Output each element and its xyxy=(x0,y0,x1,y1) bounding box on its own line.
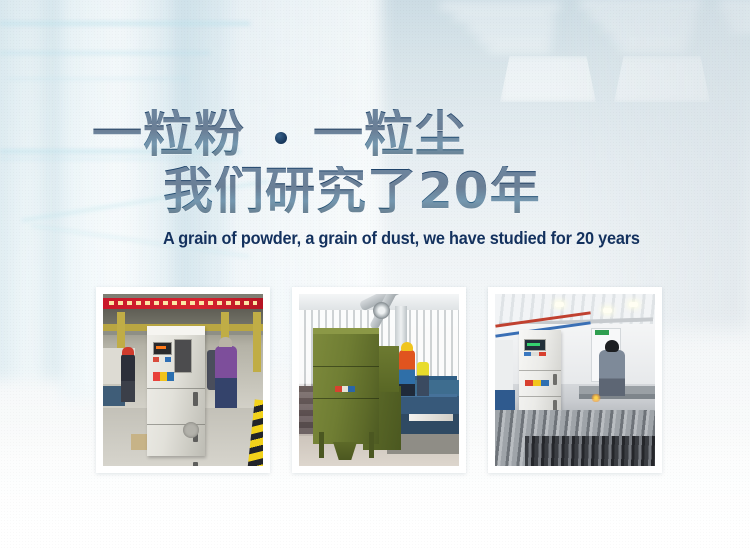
photo-white-cabinet-workshop xyxy=(495,294,655,466)
photo-frame-3[interactable] xyxy=(488,287,662,473)
headline-line-2: 我们研究了20年 xyxy=(163,166,541,216)
dot-separator-icon xyxy=(275,132,287,144)
photo-frame-2[interactable] xyxy=(292,287,466,473)
headline-phrase-powder: 一粒粉 xyxy=(92,109,245,159)
headline-phrase-years: 我们研究了20年 xyxy=(163,166,541,216)
photo-gallery xyxy=(96,287,662,473)
photo-green-dust-collector xyxy=(299,294,459,466)
photo-frame-1[interactable] xyxy=(96,287,270,473)
photo-grey-cabinet-dust-collector xyxy=(103,294,263,466)
headline-phrase-dust: 一粒尘 xyxy=(313,109,466,159)
headline-subtitle: A grain of powder, a grain of dust, we h… xyxy=(163,228,640,249)
headline-line-1: 一粒粉 一粒尘 xyxy=(92,109,466,159)
promo-banner: 一粒粉 一粒尘 我们研究了20年 A grain of powder, a gr… xyxy=(0,0,750,550)
